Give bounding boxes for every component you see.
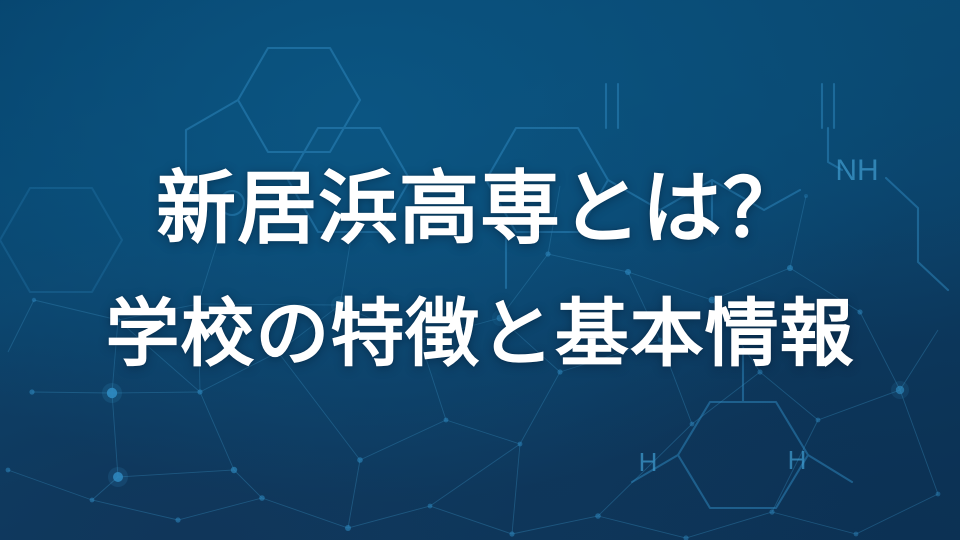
title-line-1: 新居浜高専とは？ [156,169,804,249]
title-line-2: 学校の特徴と基本情報 [106,297,855,371]
title-slide: NH H H 新居浜高専とは？ 学校の特徴と基本情報 [0,0,960,540]
headline-block: 新居浜高専とは？ 学校の特徴と基本情報 [0,0,960,540]
